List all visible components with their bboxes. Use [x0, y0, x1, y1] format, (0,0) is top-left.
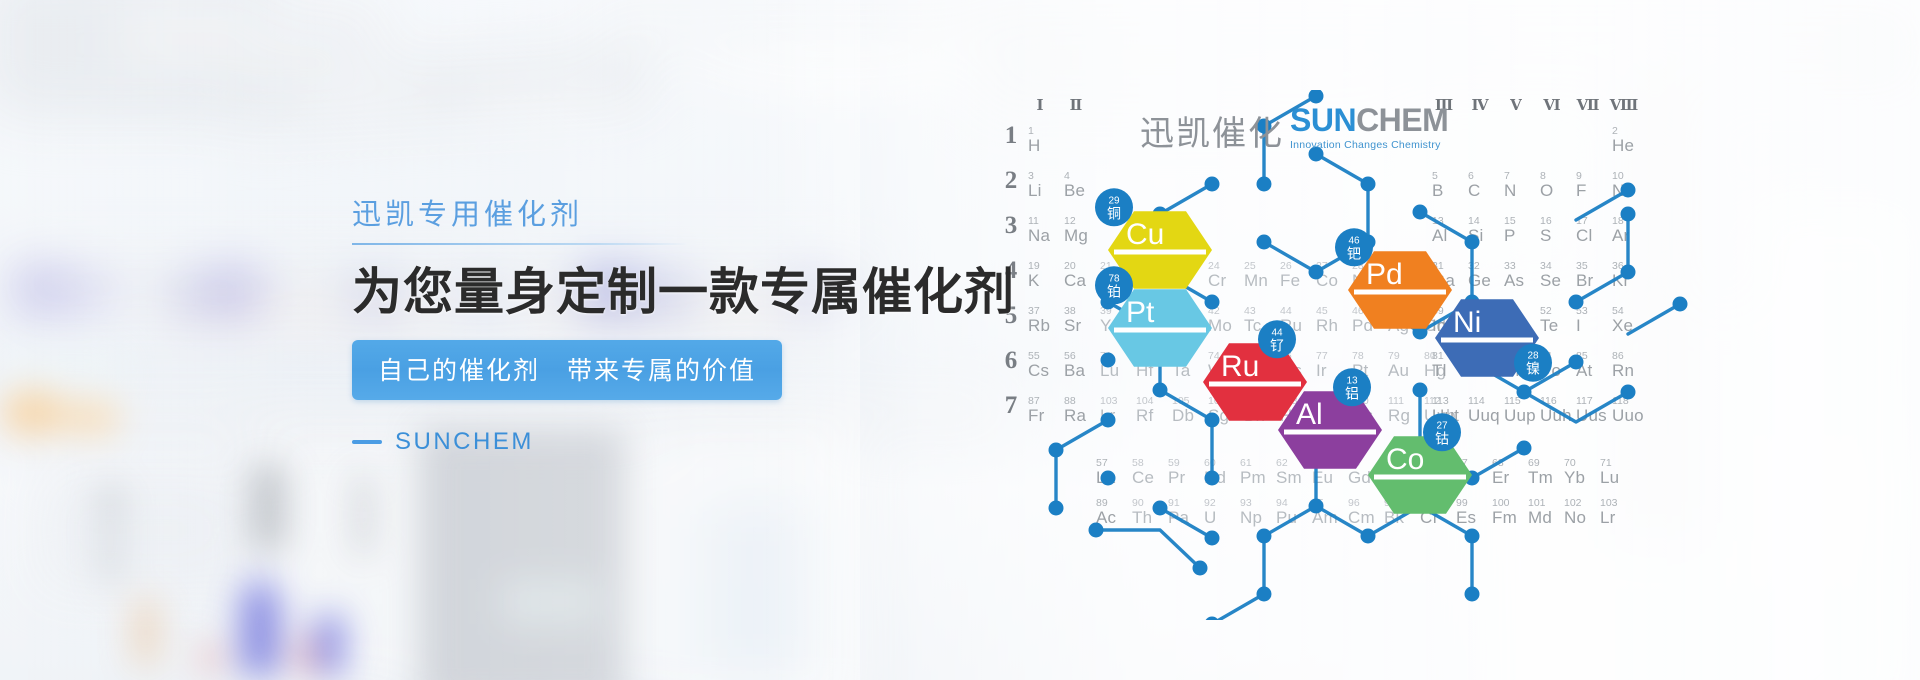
- hex-node-dot: [1049, 443, 1064, 458]
- logo-wordmark-chem: CHEM: [1356, 102, 1448, 138]
- hero-copy: 迅凯专用催化剂 为您量身定制一款专属催化剂 自己的催化剂 带来专属的价值 SUN…: [352, 200, 992, 456]
- hexagon-atomic-number: 46: [1348, 235, 1360, 246]
- hex-node-dot: [1621, 385, 1636, 400]
- hexagon-ru[interactable]: Ru44钌: [1203, 320, 1307, 420]
- hex-connector-line: [1212, 536, 1264, 620]
- hex-node-dot: [1257, 235, 1272, 250]
- hexagon-atomic-number: 27: [1436, 420, 1448, 431]
- hexagon-ni[interactable]: Ni28镍: [1435, 299, 1552, 381]
- hex-node-dot: [1101, 471, 1116, 486]
- hex-node-dot: [1193, 561, 1208, 576]
- hexagon-atomic-number: 13: [1346, 375, 1358, 386]
- dash-icon: [352, 440, 382, 444]
- hexagon-chinese-name: 镍: [1526, 362, 1540, 378]
- hex-connector-line: [1096, 530, 1200, 568]
- hex-node-dot: [1089, 523, 1104, 538]
- hex-node-dot: [1257, 587, 1272, 602]
- hexagon-chinese-name: 铂: [1107, 284, 1121, 300]
- hexagon-atomic-number: 44: [1271, 327, 1283, 338]
- hex-node-dot: [1621, 207, 1636, 222]
- hexagon-symbol: Ni: [1453, 306, 1481, 339]
- hex-node-dot: [1465, 235, 1480, 250]
- hex-node-dot: [1465, 587, 1480, 602]
- hexagon-symbol: Al: [1296, 398, 1323, 431]
- company-logo: 迅凯催化 SUNCHEM Innovation Changes Chemistr…: [1140, 104, 1448, 153]
- hex-connector-line: [1628, 304, 1680, 334]
- hex-node-dot: [1621, 183, 1636, 198]
- hex-node-dot: [1621, 265, 1636, 280]
- hexagon-network: Cu29铜Pt78铂Ru44钌Al13铝Co27钴Pd46钯Ni28镍: [1000, 90, 1760, 620]
- hero-eyebrow-rule: [352, 243, 689, 245]
- hexagon-chinese-name: 钌: [1270, 338, 1284, 354]
- hex-node-dot: [1205, 177, 1220, 192]
- hex-connector-line: [1160, 508, 1212, 538]
- hero-signature: SUNCHEM: [352, 428, 992, 456]
- hex-node-dot: [1413, 205, 1428, 220]
- hexagon-pd[interactable]: Pd46钯: [1335, 228, 1452, 328]
- logo-wordmark: SUNCHEM: [1290, 104, 1448, 137]
- hero-eyebrow: 迅凯专用催化剂: [352, 200, 992, 241]
- hex-node-dot: [1101, 353, 1116, 368]
- hex-node-dot: [1309, 265, 1324, 280]
- hex-node-dot: [1205, 413, 1220, 428]
- hero-banner: 迅凯专用催化剂 为您量身定制一款专属催化剂 自己的催化剂 带来专属的价值 SUN…: [0, 0, 1920, 680]
- hexagon-atomic-number: 28: [1527, 351, 1539, 362]
- logo-tagline: Innovation Changes Chemistry: [1290, 140, 1448, 151]
- hexagon-symbol: Pt: [1126, 296, 1155, 329]
- hex-node-dot: [1257, 529, 1272, 544]
- hexagon-chinese-name: 钴: [1435, 431, 1449, 447]
- hex-node-dot: [1205, 531, 1220, 546]
- hexagon-symbol: Ru: [1221, 350, 1259, 383]
- hex-node-dot: [1361, 177, 1376, 192]
- hexagon-symbol: Pd: [1366, 258, 1403, 291]
- hex-node-dot: [1153, 383, 1168, 398]
- hexagon-chinese-name: 铝: [1345, 386, 1359, 402]
- hex-connector-line: [1056, 420, 1108, 508]
- hex-node-dot: [1205, 617, 1220, 621]
- hexagon-symbol: Co: [1386, 443, 1424, 476]
- hex-node-dot: [1673, 297, 1688, 312]
- hexagon-atomic-number: 78: [1108, 273, 1120, 284]
- hexagon-network-svg: Cu29铜Pt78铂Ru44钌Al13铝Co27钴Pd46钯Ni28镍: [1000, 90, 1760, 620]
- hex-node-dot: [1465, 529, 1480, 544]
- hex-node-dot: [1361, 529, 1376, 544]
- hex-node-dot: [1153, 501, 1168, 516]
- hexagon-atomic-number: 29: [1108, 195, 1120, 206]
- hex-node-dot: [1205, 471, 1220, 486]
- hex-connector-line: [1576, 214, 1628, 302]
- hex-node-dot: [1309, 499, 1324, 514]
- hexagon-chinese-name: 铜: [1107, 206, 1121, 222]
- hex-connector-line: [1576, 190, 1628, 220]
- logo-chinese-name: 迅凯催化: [1140, 115, 1284, 153]
- hex-node-dot: [1101, 413, 1116, 428]
- hex-node-dot: [1517, 385, 1532, 400]
- hex-node-dot: [1569, 355, 1584, 370]
- hex-node-dot: [1049, 501, 1064, 516]
- hero-tagline-pill: 自己的催化剂 带来专属的价值: [352, 340, 782, 400]
- hex-connector-line: [1420, 506, 1472, 594]
- hex-node-dot: [1205, 295, 1220, 310]
- hex-node-dot: [1413, 383, 1428, 398]
- hero-signature-text: SUNCHEM: [395, 428, 534, 456]
- hex-node-dot: [1257, 177, 1272, 192]
- logo-wordmark-sun: SUN: [1290, 102, 1356, 138]
- hexagon-symbol: Cu: [1126, 218, 1164, 251]
- hero-headline: 为您量身定制一款专属催化剂: [352, 264, 992, 320]
- logo-english: SUNCHEM Innovation Changes Chemistry: [1290, 104, 1448, 153]
- hex-node-dot: [1569, 295, 1584, 310]
- hex-connector-line: [1524, 392, 1628, 422]
- hex-node-dot: [1517, 441, 1532, 456]
- hexagon-chinese-name: 钯: [1347, 246, 1361, 262]
